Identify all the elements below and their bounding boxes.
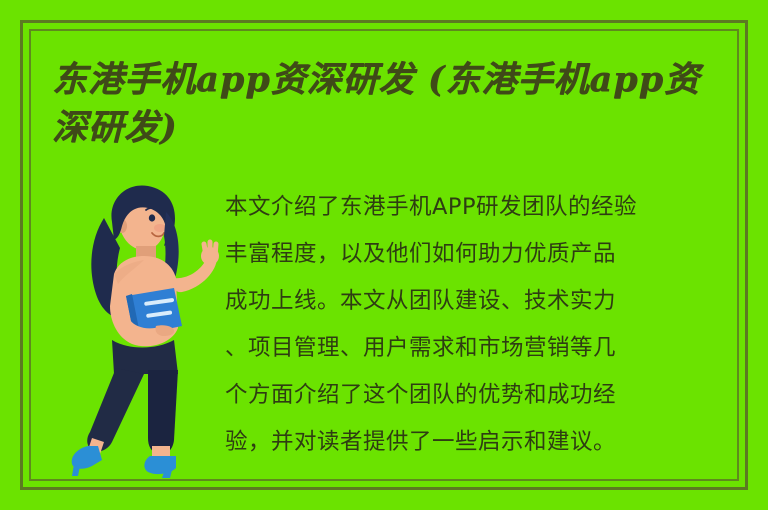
eye-icon: [149, 214, 155, 221]
body-line: 、项目管理、用户需求和市场营销等几: [225, 325, 745, 372]
page-title: 东港手机app资深研发 (东港手机app资深研发): [52, 56, 724, 152]
poster-canvas: 东港手机app资深研发 (东港手机app资深研发): [0, 0, 768, 510]
body-line: 成功上线。本文从团队建设、技术实力: [225, 278, 745, 325]
blush-icon: [154, 224, 166, 232]
body-line: 本文介绍了东港手机APP研发团队的经验: [225, 184, 745, 231]
body-paragraph: 本文介绍了东港手机APP研发团队的经验 丰富程度，以及他们如何助力优质产品 成功…: [225, 184, 745, 466]
body-line: 个方面介绍了这个团队的优势和成功经: [225, 372, 745, 419]
hand-palm-icon: [201, 247, 219, 265]
body-line: 丰富程度，以及他们如何助力优质产品: [225, 231, 745, 278]
illustration-woman-walking-with-book: [52, 178, 232, 478]
front-leg-icon: [148, 370, 178, 454]
back-leg-icon: [87, 368, 144, 452]
body-line: 验，并对读者提供了一些启示和建议。: [225, 419, 745, 466]
